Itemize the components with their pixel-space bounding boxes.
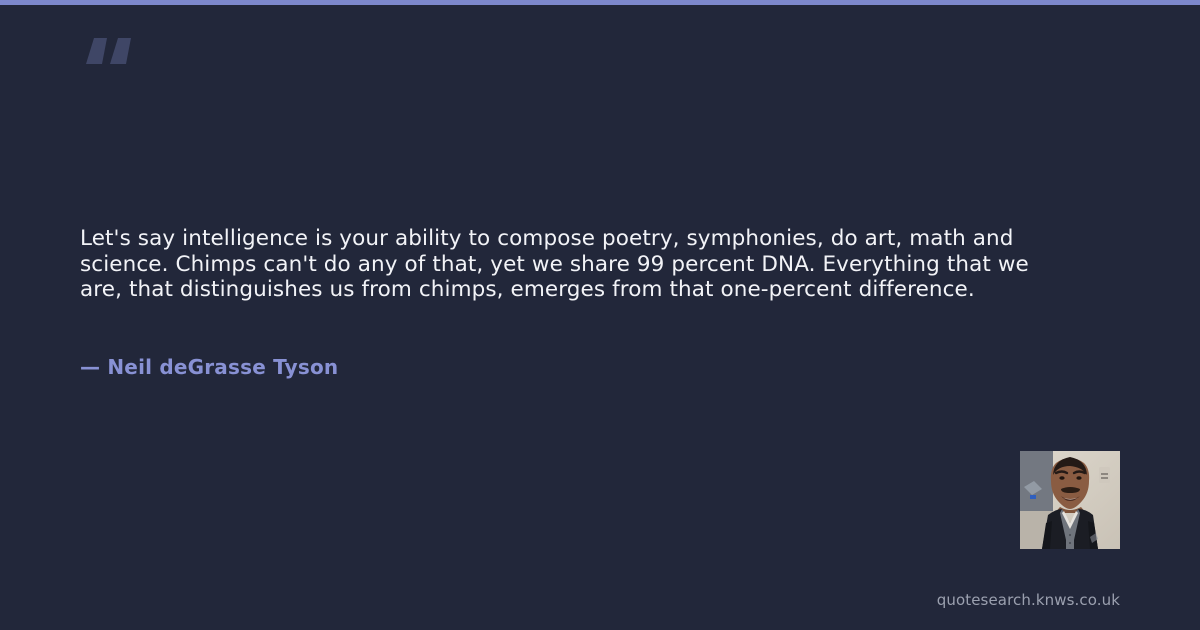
top-accent-bar — [0, 0, 1200, 5]
quote-text: Let's say intelligence is your ability t… — [80, 226, 1060, 303]
quote-card: Let's say intelligence is your ability t… — [0, 0, 1200, 630]
quote-attribution: — Neil deGrasse Tyson — [80, 355, 338, 379]
quote-mark-icon — [80, 22, 140, 82]
source-url: quotesearch.knws.co.uk — [937, 591, 1120, 609]
author-portrait — [1020, 451, 1120, 549]
